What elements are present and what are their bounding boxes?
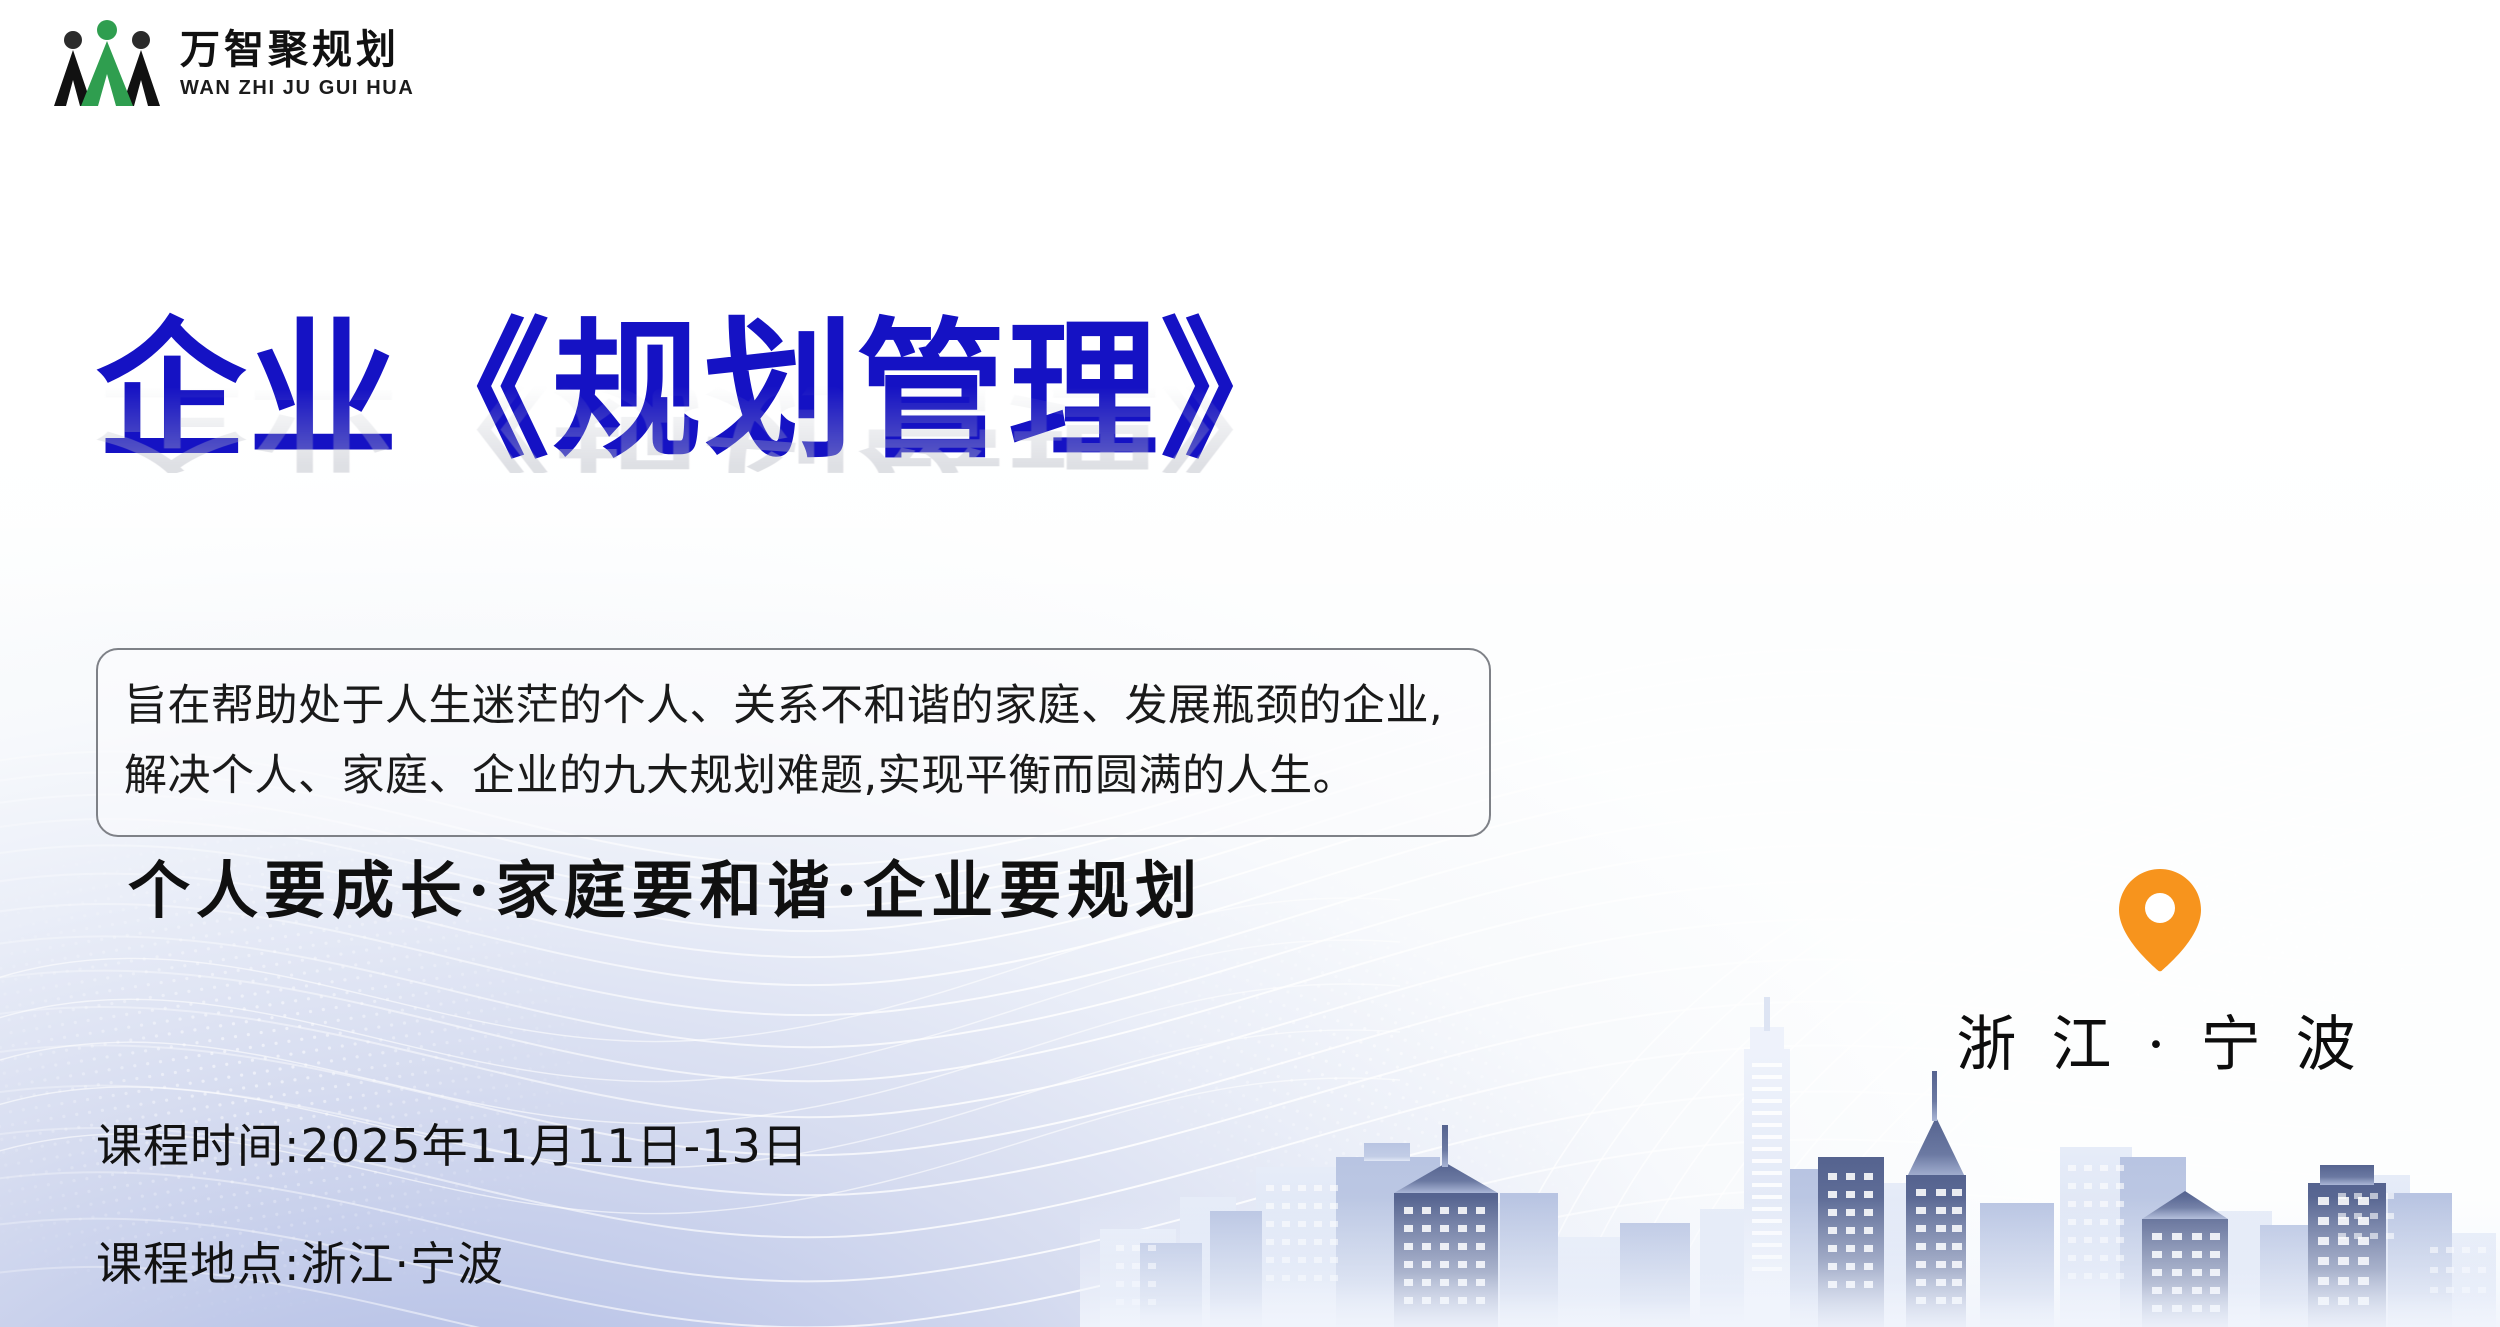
- course-time: 课程时间:2025年11月11日-13日: [96, 1110, 809, 1176]
- description-line-1: 旨在帮助处于人生迷茫的个人、关系不和谐的家庭、发展瓶颈的企业,: [124, 672, 1463, 742]
- course-place: 课程地点:浙江·宁波: [96, 1228, 809, 1294]
- description-line-2: 解决个人、家庭、企业的九大规划难题,实现平衡而圆满的人生。: [124, 742, 1463, 812]
- location-city: 浙 江 · 宁 波: [1950, 996, 2370, 1083]
- brand-name-en: WAN ZHI JU GUI HUA: [180, 78, 414, 98]
- title-reflection: 企业《规划管理》: [96, 378, 1616, 473]
- map-pin-icon: [2112, 865, 2208, 973]
- tagline: 个人要成长·家庭要和谐·企业要规划: [128, 840, 1203, 930]
- brand-logo[interactable]: 万智聚规划 WAN ZHI JU GUI HUA: [48, 18, 414, 110]
- poster-canvas: 万智聚规划 WAN ZHI JU GUI HUA 企业《规划管理》 企业《规划管…: [0, 0, 2500, 1327]
- three-people-m-logo-icon: [48, 18, 166, 110]
- hero-title-block: 企业《规划管理》 企业《规划管理》: [96, 316, 1616, 666]
- location-block: 浙 江 · 宁 波: [1950, 865, 2370, 1083]
- course-info: 课程时间:2025年11月11日-13日 课程地点:浙江·宁波: [96, 1110, 809, 1294]
- description-box: 旨在帮助处于人生迷茫的个人、关系不和谐的家庭、发展瓶颈的企业, 解决个人、家庭、…: [96, 648, 1491, 837]
- brand-name-cn: 万智聚规划: [180, 30, 414, 70]
